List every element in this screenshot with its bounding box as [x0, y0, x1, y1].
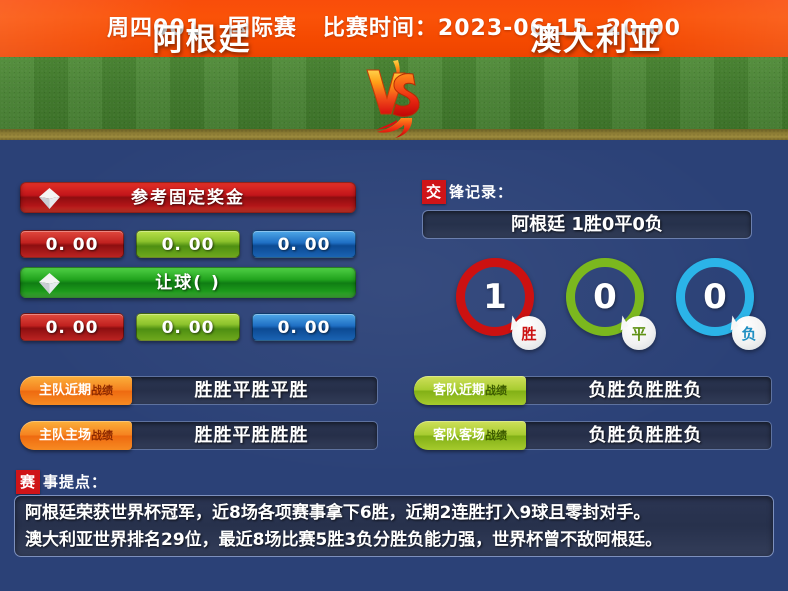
- form-chip-sub: 战绩: [485, 429, 507, 442]
- tips-line-2: 澳大利亚世界排名29位，最近8场比赛5胜3负分胜负能力强，世界杯曾不敌阿根廷。: [25, 527, 763, 554]
- handicap-title-bar: 让球( ): [20, 267, 356, 298]
- form-chip-main: 客队近期: [433, 383, 485, 398]
- diamond-icon: [37, 186, 62, 211]
- h2h-label-chip: 交: [422, 180, 446, 204]
- h2h-summary: 阿根廷 1胜0平0负: [422, 210, 752, 239]
- form-chip-away-venue: 客队客场战绩: [414, 421, 526, 450]
- match-preview-card: 周四001 国际赛 比赛时间：2023-06-15 20:00 阿根廷 澳大利亚: [0, 0, 788, 591]
- form-chip-home-recent: 主队近期战绩: [20, 376, 132, 405]
- form-chip-sub: 战绩: [91, 429, 113, 442]
- fixed-odds-draw[interactable]: 0. 00: [136, 230, 240, 258]
- handicap-odds-lose[interactable]: 0. 00: [252, 313, 356, 341]
- diamond-icon: [37, 271, 62, 296]
- form-chip-home-venue: 主队主场战绩: [20, 421, 132, 450]
- form-value-away-recent: 负胜负胜胜负: [519, 376, 772, 405]
- fixed-odds-lose[interactable]: 0. 00: [252, 230, 356, 258]
- h2h-label-rest: 锋记录：: [449, 183, 513, 201]
- form-chip-main: 客队客场: [433, 428, 485, 443]
- tips-label-chip: 赛: [16, 470, 40, 494]
- form-row-away-recent: 客队近期战绩 负胜负胜胜负: [414, 376, 772, 405]
- form-chip-sub: 战绩: [91, 384, 113, 397]
- form-row-away-venue: 客队客场战绩 负胜负胜胜负: [414, 421, 772, 450]
- form-chip-main: 主队近期: [39, 383, 91, 398]
- handicap-title-text: 让球( ): [155, 273, 220, 293]
- form-chip-sub: 战绩: [485, 384, 507, 397]
- handicap-odds-draw[interactable]: 0. 00: [136, 313, 240, 341]
- tips-label-rest: 事提点：: [43, 473, 107, 491]
- handicap-odds-win[interactable]: 0. 00: [20, 313, 124, 341]
- away-team-name: 澳大利亚: [466, 14, 726, 59]
- form-value-away-venue: 负胜负胜胜负: [519, 421, 772, 450]
- fixed-odds-title-text: 参考固定奖金: [131, 188, 245, 208]
- h2h-ring-lose: 0 负: [676, 258, 762, 344]
- ring-lose-badge: 负: [732, 316, 766, 350]
- vs-icon: [357, 56, 431, 140]
- form-chip-main: 主队主场: [39, 428, 91, 443]
- ring-win-badge: 胜: [512, 316, 546, 350]
- tips-section-label: 赛事提点：: [16, 470, 107, 494]
- ring-draw-badge: 平: [622, 316, 656, 350]
- form-value-home-recent: 胜胜平胜平胜: [125, 376, 378, 405]
- tips-box: 阿根廷荣获世界杯冠军，近8场各项赛事拿下6胜，近期2连胜打入9球且零封对手。 澳…: [14, 495, 774, 557]
- form-row-home-venue: 主队主场战绩 胜胜平胜胜胜: [20, 421, 378, 450]
- home-team-name: 阿根廷: [72, 14, 332, 59]
- h2h-ring-win: 1 胜: [456, 258, 542, 344]
- h2h-section-label: 交锋记录：: [422, 180, 513, 204]
- form-row-home-recent: 主队近期战绩 胜胜平胜平胜: [20, 376, 378, 405]
- tips-line-1: 阿根廷荣获世界杯冠军，近8场各项赛事拿下6胜，近期2连胜打入9球且零封对手。: [25, 500, 763, 527]
- form-chip-away-recent: 客队近期战绩: [414, 376, 526, 405]
- h2h-ring-draw: 0 平: [566, 258, 652, 344]
- fixed-odds-title-bar: 参考固定奖金: [20, 182, 356, 213]
- form-value-home-venue: 胜胜平胜胜胜: [125, 421, 378, 450]
- fixed-odds-win[interactable]: 0. 00: [20, 230, 124, 258]
